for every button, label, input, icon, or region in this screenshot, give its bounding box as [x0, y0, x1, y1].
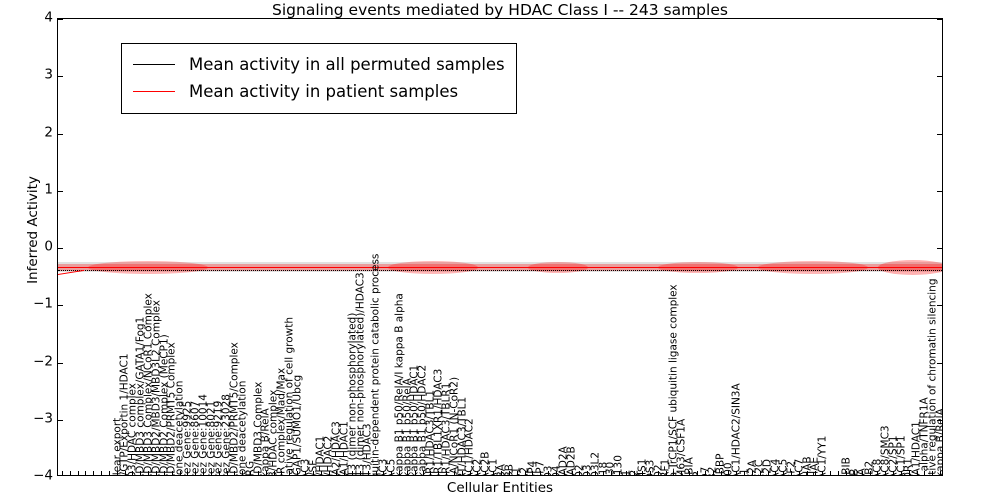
x-tick-label: GATA1/HDAC1 [339, 421, 350, 476]
x-tick-mark [666, 471, 667, 475]
x-tick-label: NuRD/MBD3 complex/GATA1/Fog1 [136, 316, 147, 476]
x-tick-mark [140, 471, 141, 475]
x-tick-label: NuRD/MBD2/PRMT5 Complex [167, 342, 178, 476]
x-tick-mark [383, 471, 384, 475]
x-tick-mark [219, 471, 220, 475]
x-tick-mark [360, 471, 361, 475]
plot-area: Nuclear exportRan/GTP/Exportin 1/HDAC1MB… [57, 18, 943, 476]
x-tick-mark [846, 471, 847, 475]
legend-label-permuted: Mean activity in all permuted samples [189, 55, 505, 74]
x-tick-mark [564, 471, 565, 475]
x-tick-label: NuRD/MBD2/PRMT5/Complex [230, 342, 241, 476]
y-tick-mark [58, 248, 63, 249]
x-tick-mark [579, 471, 580, 475]
x-tick-label: Histone deacetylation [175, 380, 186, 476]
x-tick-mark [642, 471, 643, 475]
x-tick-mark [681, 471, 682, 475]
x-tick-mark [305, 471, 306, 475]
x-tick-mark [768, 471, 769, 475]
x-tick-label: HDAC1/HDAC2 [465, 418, 476, 476]
x-tick-label: GATA2/HDAC3 [332, 421, 343, 476]
x-tick-label: SMRT/HDAC3/TBL1 [457, 396, 468, 476]
x-tick-mark [626, 471, 627, 475]
legend-swatch-permuted [133, 64, 175, 65]
x-tick-mark [728, 471, 729, 475]
x-tick-label: STAT3/HDAC3 [363, 423, 374, 476]
x-tick-mark [697, 471, 698, 475]
x-tick-mark [940, 471, 941, 475]
x-tick-mark [572, 471, 573, 475]
y-tick-label: 0 [9, 240, 53, 254]
x-tick-mark [744, 471, 745, 475]
y-tick-mark [58, 305, 63, 306]
x-tick-mark [509, 471, 510, 475]
x-tick-mark [689, 471, 690, 475]
x-tick-label: Entrez Gene:8607 [190, 400, 201, 476]
x-tick-mark [877, 471, 878, 475]
x-tick-mark [713, 471, 714, 475]
legend-swatch-patient [133, 91, 175, 92]
x-tick-mark [180, 471, 181, 475]
x-tick-mark [117, 471, 118, 475]
y-tick-mark [937, 191, 942, 192]
x-tick-mark [658, 471, 659, 475]
x-tick-mark [148, 471, 149, 475]
y-tick-label: −4 [9, 469, 53, 483]
x-tick-mark [227, 471, 228, 475]
y-tick-label: 1 [9, 183, 53, 197]
x-tick-mark [721, 471, 722, 475]
x-tick-mark [234, 471, 235, 475]
x-tick-mark [321, 471, 322, 475]
x-tick-mark [187, 471, 188, 475]
x-tick-label: Entrez Gene:9925 [183, 400, 194, 476]
x-tick-mark [815, 471, 816, 475]
x-tick-mark [438, 471, 439, 475]
x-tick-mark [430, 471, 431, 475]
x-tick-mark [493, 471, 494, 475]
permuted-mean-line [58, 270, 942, 271]
x-tick-mark [195, 471, 196, 475]
y-tick-label: 4 [9, 11, 53, 25]
x-tick-mark [399, 471, 400, 475]
x-tick-label: HDAC8/SMC3 [880, 425, 891, 476]
x-tick-mark [760, 471, 761, 475]
x-tick-label: RXRA/NCoR1 (N-CoR2) [449, 376, 460, 476]
y-tick-mark [937, 76, 942, 77]
y-tick-label: 3 [9, 69, 53, 83]
x-tick-mark [822, 471, 823, 475]
x-tick-label: YY1/HDAC1 [316, 435, 327, 476]
chart-title: Signaling events mediated by HDAC Class … [57, 1, 943, 19]
y-tick-label: −2 [9, 355, 53, 369]
x-tick-label: NuRD/MBD3 Complex/NCoR1 Complex [143, 293, 154, 476]
x-tick-label: NuRD/MBD2/MBD3/MBD3L2 Complex [151, 299, 162, 476]
x-tick-mark [485, 471, 486, 475]
x-tick-label: NF-kappa B1 p50/HDAC2 [418, 364, 429, 476]
x-tick-mark [407, 471, 408, 475]
x-tick-mark [862, 471, 863, 475]
x-tick-label: MBD3/HDAC complex [128, 382, 139, 476]
legend-entry-patient: Mean activity in patient samples [133, 78, 505, 105]
x-tick-mark [289, 471, 290, 475]
x-tick-mark [211, 471, 212, 475]
x-tick-mark [242, 471, 243, 475]
x-tick-mark [548, 471, 549, 475]
y-tick-mark [937, 305, 942, 306]
x-tick-label: NCoR complex/Mad/Max [277, 367, 288, 476]
x-tick-mark [924, 471, 925, 475]
x-tick-mark [250, 471, 251, 475]
x-tick-mark [791, 471, 792, 475]
x-tick-label: Entrez Gene:9219 [214, 400, 225, 476]
x-tick-label: GATA1/HDAC1 [912, 421, 923, 476]
x-tick-mark [164, 471, 165, 475]
x-tick-mark [391, 471, 392, 475]
x-tick-mark [477, 471, 478, 475]
y-tick-mark [937, 19, 942, 20]
x-tick-label: TRIM63/CSF1A [677, 418, 688, 476]
y-tick-mark [58, 420, 63, 421]
x-tick-label: SP1 [826, 475, 837, 476]
y-tick-mark [58, 19, 63, 20]
x-tick-label: RanGAP1/SUMO1/Ubcg [292, 374, 303, 476]
x-tick-mark [932, 471, 933, 475]
x-tick-mark [752, 471, 753, 475]
x-tick-mark [532, 471, 533, 475]
x-tick-mark [517, 471, 518, 475]
x-tick-mark [274, 471, 275, 475]
x-tick-mark [172, 471, 173, 475]
x-tick-mark [587, 471, 588, 475]
x-tick-mark [415, 471, 416, 475]
x-tick-label: Nuclear export [112, 417, 123, 476]
x-tick-label: STAT3 (dimer non-phosphorylated) [347, 312, 358, 476]
x-tick-mark [783, 471, 784, 475]
x-tick-mark [799, 471, 800, 475]
x-tick-label: TNF-alpha/TNFR1A [920, 397, 931, 476]
x-tick-label: Entrez Gene:23028 [222, 394, 233, 476]
y-tick-mark [937, 420, 942, 421]
chart-legend: Mean activity in all permuted samples Me… [121, 43, 517, 114]
x-tick-mark [650, 471, 651, 475]
x-tick-mark [78, 471, 79, 475]
x-tick-mark [634, 471, 635, 475]
x-tick-label: NF-kappa B1 p50/RelA/I kappa B alpha [394, 293, 405, 476]
x-tick-label: HDAC1/SP1 [896, 435, 907, 476]
x-tick-label: SIN3/HDAC complex [269, 389, 280, 476]
y-tick-label: −1 [9, 298, 53, 312]
x-tick-mark [344, 471, 345, 475]
x-tick-mark [501, 471, 502, 475]
x-tick-mark [705, 471, 706, 475]
x-tick-mark [611, 471, 612, 475]
y-tick-mark [58, 191, 63, 192]
legend-entry-permuted: Mean activity in all permuted samples [133, 51, 505, 78]
x-tick-mark [266, 471, 267, 475]
x-tick-mark [595, 471, 596, 475]
x-tick-mark [470, 471, 471, 475]
x-tick-mark [125, 471, 126, 475]
x-tick-mark [893, 471, 894, 475]
x-tick-label: Negative regulation of cell growth [285, 316, 296, 476]
x-tick-mark [423, 471, 424, 475]
x-axis-label: Cellular Entities [57, 480, 943, 496]
x-tick-mark [619, 471, 620, 475]
x-tick-mark [258, 471, 259, 475]
x-tick-label: NF-kappa B/RelA [261, 408, 272, 476]
x-tick-label: NCoR1/HDAC3/TBLR1 [441, 382, 452, 476]
x-tick-mark [336, 471, 337, 475]
x-tick-label: NuRD/MBD3 Complex [253, 381, 264, 476]
x-tick-mark [368, 471, 369, 475]
x-tick-mark [917, 471, 918, 475]
x-tick-label: HDAC1/YY1 [818, 435, 829, 476]
x-tick-label: HDAC1/HDAC2/SIN3A [731, 383, 742, 476]
x-tick-mark [93, 471, 94, 475]
x-tick-mark [854, 471, 855, 475]
x-tick-mark [203, 471, 204, 475]
x-tick-mark [603, 471, 604, 475]
x-tick-mark [830, 471, 831, 475]
x-tick-mark [156, 471, 157, 475]
x-tick-label: Entrez Gene:10014 [198, 394, 209, 476]
x-tick-mark [446, 471, 447, 475]
x-tick-label: ubiquitin-dependent protein catabolic pr… [371, 253, 382, 476]
x-tick-label: beta-TrCP1/SCF ubiquitin ligase complex [669, 284, 680, 476]
x-tick-label: NF-kappa B1 p50/HDAC1 [410, 364, 421, 476]
x-tick-label: NF-kappa B1 p50/RelA [402, 378, 413, 476]
x-tick-label: YY1/HDAC2 [324, 435, 335, 476]
y-tick-mark [58, 134, 63, 135]
x-tick-mark [70, 471, 71, 475]
x-tick-label: NCoR1/TBL1XR1/HDAC3 [433, 368, 444, 476]
x-tick-mark [540, 471, 541, 475]
x-tick-mark [736, 471, 737, 475]
y-tick-mark [937, 134, 942, 135]
x-tick-mark [909, 471, 910, 475]
y-tick-mark [58, 363, 63, 364]
y-tick-label: −3 [9, 412, 53, 426]
y-tick-mark [58, 76, 63, 77]
x-tick-mark [85, 471, 86, 475]
x-tick-mark [838, 471, 839, 475]
x-tick-mark [62, 471, 63, 475]
x-tick-mark [885, 471, 886, 475]
patient-mean-line [58, 267, 942, 268]
x-tick-mark [673, 471, 674, 475]
x-tick-label: NuRD/MBD2 Complex (MeCP1) [159, 334, 170, 476]
x-tick-label: STAT3 (dimer non-phosphorylated)/HDAC3 [355, 272, 366, 476]
x-tick-mark [132, 471, 133, 475]
y-tick-mark [937, 248, 942, 249]
x-tick-mark [101, 471, 102, 475]
x-tick-label: HDAC2/SP1 [888, 435, 899, 476]
x-tick-mark [870, 471, 871, 475]
x-tick-mark [352, 471, 353, 475]
x-tick-mark [281, 471, 282, 475]
x-tick-mark [297, 471, 298, 475]
y-tick-label: 2 [9, 126, 53, 140]
x-tick-mark [775, 471, 776, 475]
x-tick-label: Ran/GTP/Exportin 1/HDAC1 [120, 353, 131, 476]
x-tick-mark [462, 471, 463, 475]
x-tick-mark [901, 471, 902, 475]
x-tick-label: NCoR1/HDAC3/TBL1 [426, 389, 437, 476]
y-tick-mark [937, 363, 942, 364]
x-tick-mark [454, 471, 455, 475]
x-tick-label: Entrez Gene:8021 [206, 400, 217, 476]
x-tick-mark [525, 471, 526, 475]
matplotlib-figure: Signaling events mediated by HDAC Class … [0, 0, 1000, 500]
legend-label-patient: Mean activity in patient samples [189, 82, 458, 101]
x-tick-mark [556, 471, 557, 475]
x-tick-label: SP3 [833, 475, 844, 476]
x-tick-label: Histone deacetylation [237, 380, 248, 476]
x-tick-label: Positive regulation of chromatin silenci… [927, 278, 938, 476]
x-tick-mark [109, 471, 110, 475]
x-tick-mark [329, 471, 330, 475]
x-tick-mark [313, 471, 314, 475]
x-tick-label: NF-kappa B/RelA [935, 408, 943, 476]
x-tick-mark [807, 471, 808, 475]
x-tick-mark [376, 471, 377, 475]
